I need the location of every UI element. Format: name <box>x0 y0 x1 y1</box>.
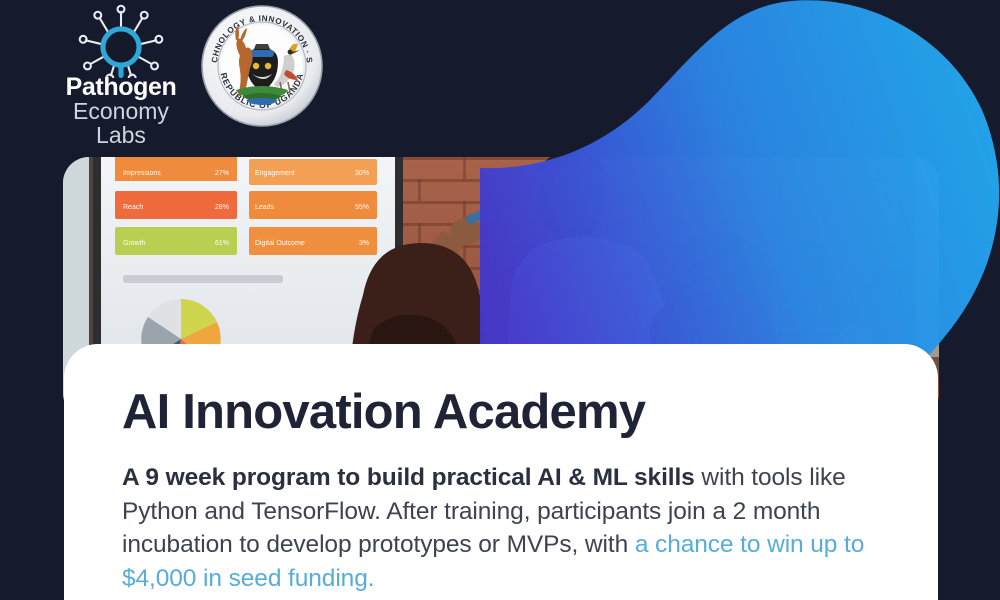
svg-text:30%: 30% <box>355 170 369 177</box>
logo-line-1: Pathogen <box>66 74 177 100</box>
logo-line-3: Labs <box>66 124 177 148</box>
pathogen-logo-wordmark: Pathogen Economy Labs <box>66 74 177 148</box>
poster-canvas: Impressions27% Engagement30% Reach28% Le… <box>0 0 1000 600</box>
svg-text:3%: 3% <box>359 240 369 247</box>
uganda-sti-secretariat-seal[interactable]: SCIENCE, TECHNOLOGY & INNOVATION · SECRE… <box>200 4 324 128</box>
svg-text:Impressions: Impressions <box>123 170 161 177</box>
svg-text:Growth: Growth <box>123 240 146 247</box>
description-bold-lead: A 9 week program to build practical AI &… <box>122 464 695 491</box>
svg-text:Reach: Reach <box>123 204 143 211</box>
content-card: AI Innovation Academy A 9 week program t… <box>64 344 938 600</box>
logo-line-2: Economy <box>66 100 177 124</box>
virus-magnifier-icon <box>78 4 164 78</box>
svg-text:28%: 28% <box>215 204 229 211</box>
svg-text:Leads: Leads <box>255 204 275 211</box>
pathogen-economy-labs-logo[interactable]: Pathogen Economy Labs <box>60 4 182 148</box>
svg-text:61%: 61% <box>215 240 229 247</box>
program-description: A 9 week program to build practical AI &… <box>122 461 882 595</box>
uganda-coat-of-arms-seal-icon: SCIENCE, TECHNOLOGY & INNOVATION · SECRE… <box>200 4 324 128</box>
svg-text:Digital Outcome: Digital Outcome <box>255 240 305 247</box>
svg-text:Engagement: Engagement <box>255 170 295 177</box>
page-title: AI Innovation Academy <box>122 388 882 437</box>
header-logos: Pathogen Economy Labs <box>60 4 324 148</box>
svg-text:27%: 27% <box>215 170 229 177</box>
svg-text:55%: 55% <box>355 204 369 211</box>
